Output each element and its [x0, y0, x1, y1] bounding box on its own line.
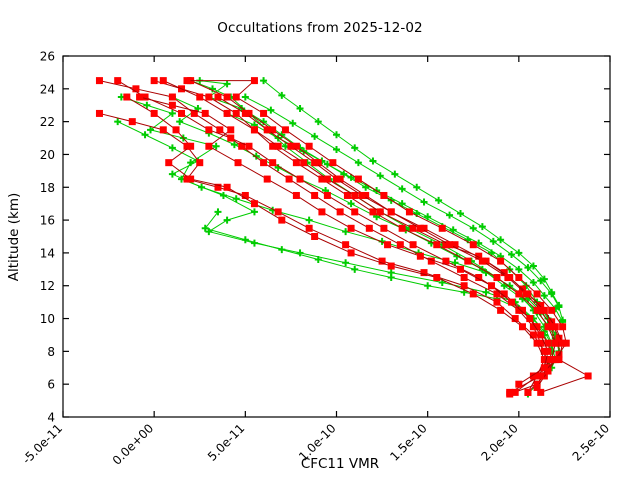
data-point-marker — [187, 143, 194, 150]
data-point-marker — [96, 77, 103, 84]
data-point-marker — [300, 159, 307, 166]
data-point-marker — [114, 118, 121, 125]
data-point-marker — [224, 110, 231, 117]
data-point-marker — [242, 236, 249, 243]
data-point-marker — [297, 176, 304, 183]
data-point-marker — [470, 225, 477, 232]
data-point-marker — [585, 372, 592, 379]
data-point-marker — [457, 210, 464, 217]
data-point-marker — [264, 176, 271, 183]
data-point-marker — [96, 110, 103, 117]
data-point-marker — [216, 126, 223, 133]
data-point-marker — [224, 217, 231, 224]
data-point-marker — [176, 118, 183, 125]
data-point-marker — [439, 225, 446, 232]
data-point-marker — [342, 241, 349, 248]
data-point-marker — [388, 208, 395, 215]
data-point-marker — [351, 208, 358, 215]
data-point-marker — [333, 131, 340, 138]
series-red-3 — [96, 110, 552, 398]
data-point-marker — [318, 208, 325, 215]
data-point-marker — [205, 143, 212, 150]
data-point-marker — [311, 133, 318, 140]
data-point-marker — [461, 274, 468, 281]
y-tick-label: 12 — [40, 279, 55, 293]
data-point-marker — [183, 77, 190, 84]
data-point-marker — [512, 389, 519, 396]
series-green-6 — [202, 208, 555, 348]
y-axis-title: Altitude (km) — [6, 193, 22, 282]
data-point-marker — [433, 274, 440, 281]
data-point-marker — [534, 340, 541, 347]
data-point-marker — [123, 94, 130, 101]
data-point-marker — [293, 192, 300, 199]
y-tick-label: 18 — [40, 181, 55, 195]
data-point-marker — [202, 110, 209, 117]
data-point-marker — [355, 176, 362, 183]
y-axis-ticks: 468101214161820222426 — [40, 50, 610, 425]
data-point-marker — [348, 225, 355, 232]
y-tick-label: 16 — [40, 214, 55, 228]
data-point-marker — [493, 299, 500, 306]
data-point-marker — [351, 192, 358, 199]
data-point-marker — [224, 94, 231, 101]
data-point-marker — [537, 389, 544, 396]
data-point-marker — [260, 159, 267, 166]
data-point-marker — [369, 208, 376, 215]
data-point-marker — [233, 94, 240, 101]
data-point-marker — [537, 307, 544, 314]
data-point-marker — [173, 126, 180, 133]
data-point-marker — [251, 200, 258, 207]
y-tick-label: 26 — [40, 50, 55, 64]
data-point-marker — [324, 176, 331, 183]
data-point-marker — [464, 258, 471, 265]
data-point-marker — [329, 159, 336, 166]
series-green-3 — [196, 77, 562, 371]
data-point-marker — [205, 126, 212, 133]
data-point-marker — [421, 199, 428, 206]
data-point-marker — [324, 192, 331, 199]
data-point-marker — [446, 241, 453, 248]
data-point-marker — [251, 126, 258, 133]
data-point-marker — [377, 208, 384, 215]
data-point-marker — [377, 172, 384, 179]
data-point-marker — [548, 323, 555, 330]
data-point-marker — [380, 192, 387, 199]
data-point-marker — [251, 208, 258, 215]
data-point-marker — [224, 184, 231, 191]
y-tick-label: 22 — [40, 115, 55, 129]
y-tick-label: 8 — [47, 345, 55, 359]
data-point-marker — [227, 135, 234, 142]
data-point-marker — [142, 131, 149, 138]
x-tick-label: 1.5e-10 — [387, 421, 429, 463]
series-red-9 — [214, 94, 558, 380]
data-point-marker — [196, 159, 203, 166]
y-tick-label: 24 — [40, 82, 55, 96]
plot-frame — [63, 56, 610, 417]
plot-canvas: 468101214161820222426 -5.0e-110.0e+005.0… — [0, 0, 640, 480]
data-point-marker — [227, 126, 234, 133]
data-point-marker — [548, 356, 555, 363]
x-axis-ticks: -5.0e-110.0e+005.0e-111.0e-101.5e-102.0e… — [20, 56, 613, 468]
data-point-marker — [235, 159, 242, 166]
data-point-marker — [160, 126, 167, 133]
data-point-marker — [515, 381, 522, 388]
data-point-marker — [351, 266, 358, 273]
data-point-marker — [289, 120, 296, 127]
data-point-marker — [242, 110, 249, 117]
data-point-marker — [530, 331, 537, 338]
data-point-marker — [384, 241, 391, 248]
data-point-marker — [245, 143, 252, 150]
data-point-marker — [196, 94, 203, 101]
y-tick-label: 6 — [47, 378, 55, 392]
data-point-marker — [214, 94, 221, 101]
data-point-marker — [351, 144, 358, 151]
x-tick-label: 5.0e-11 — [205, 421, 247, 463]
data-point-marker — [169, 94, 176, 101]
data-point-marker — [470, 241, 477, 248]
data-point-marker — [278, 246, 285, 253]
data-point-marker — [490, 238, 497, 245]
data-point-marker — [397, 241, 404, 248]
series-line — [187, 81, 566, 376]
data-point-marker — [337, 208, 344, 215]
data-point-marker — [282, 126, 289, 133]
data-point-marker — [151, 110, 158, 117]
data-point-marker — [504, 274, 511, 281]
x-tick-label: 2.5e-10 — [570, 421, 612, 463]
data-point-marker — [366, 225, 373, 232]
data-point-marker — [297, 105, 304, 112]
series-green-1 — [187, 77, 559, 397]
data-point-marker — [488, 282, 495, 289]
data-point-marker — [264, 126, 271, 133]
data-point-marker — [413, 184, 420, 191]
data-point-marker — [534, 290, 541, 297]
data-point-marker — [493, 290, 500, 297]
data-point-marker — [388, 274, 395, 281]
x-tick-label: -5.0e-11 — [20, 421, 66, 467]
data-point-marker — [435, 197, 442, 204]
x-tick-label: 0.0e+00 — [110, 421, 157, 468]
series-line — [154, 81, 555, 393]
data-point-marker — [497, 236, 504, 243]
data-series-layer — [96, 77, 592, 397]
data-point-marker — [399, 185, 406, 192]
data-point-marker — [251, 77, 258, 84]
data-point-marker — [359, 192, 366, 199]
data-point-marker — [399, 225, 406, 232]
data-point-marker — [169, 144, 176, 151]
data-point-marker — [388, 263, 395, 270]
data-point-marker — [479, 223, 486, 230]
data-point-marker — [136, 94, 143, 101]
data-point-marker — [446, 212, 453, 219]
data-point-marker — [269, 159, 276, 166]
data-point-marker — [424, 282, 431, 289]
data-point-marker — [333, 176, 340, 183]
data-point-marker — [541, 364, 548, 371]
data-point-marker — [275, 208, 282, 215]
data-point-marker — [306, 143, 313, 150]
series-line — [264, 81, 559, 306]
data-point-marker — [287, 143, 294, 150]
y-tick-label: 10 — [40, 312, 55, 326]
chart-root: Occultations from 2025-12-02 46810121416… — [0, 0, 640, 480]
data-point-marker — [342, 259, 349, 266]
data-point-marker — [311, 192, 318, 199]
data-point-marker — [114, 77, 121, 84]
axes-frame-layer — [63, 56, 610, 417]
data-point-marker — [311, 233, 318, 240]
data-point-marker — [348, 249, 355, 256]
data-point-marker — [524, 389, 531, 396]
data-point-marker — [205, 94, 212, 101]
data-point-marker — [306, 217, 313, 224]
data-point-marker — [526, 315, 533, 322]
series-line — [218, 97, 555, 376]
x-tick-label: 2.0e-10 — [478, 421, 520, 463]
data-point-marker — [267, 107, 274, 114]
data-point-marker — [242, 94, 249, 101]
data-point-marker — [315, 118, 322, 125]
data-point-marker — [151, 77, 158, 84]
data-point-marker — [417, 253, 424, 260]
data-point-marker — [497, 258, 504, 265]
data-point-marker — [406, 208, 413, 215]
data-point-marker — [563, 340, 570, 347]
data-point-marker — [311, 159, 318, 166]
data-point-marker — [479, 258, 486, 265]
data-point-marker — [169, 171, 176, 178]
series-red-10 — [136, 94, 551, 388]
data-point-marker — [224, 80, 231, 87]
data-point-marker — [545, 348, 552, 355]
data-point-marker — [523, 290, 530, 297]
data-point-marker — [293, 159, 300, 166]
data-point-marker — [275, 143, 282, 150]
data-point-marker — [380, 225, 387, 232]
data-point-marker — [433, 241, 440, 248]
data-point-marker — [260, 110, 267, 117]
data-point-marker — [286, 176, 293, 183]
data-point-marker — [548, 307, 555, 314]
data-point-marker — [165, 159, 172, 166]
y-tick-label: 20 — [40, 148, 55, 162]
data-point-marker — [410, 241, 417, 248]
data-point-marker — [508, 299, 515, 306]
data-point-marker — [537, 331, 544, 338]
data-point-marker — [497, 307, 504, 314]
data-point-marker — [457, 266, 464, 273]
data-point-marker — [187, 176, 194, 183]
data-point-marker — [355, 159, 362, 166]
data-point-marker — [391, 171, 398, 178]
data-point-marker — [169, 102, 176, 109]
data-point-marker — [278, 217, 285, 224]
data-point-marker — [198, 184, 205, 191]
data-point-marker — [515, 274, 522, 281]
data-point-marker — [129, 118, 136, 125]
x-axis-title: CFC11 VMR — [301, 456, 379, 472]
data-point-marker — [160, 77, 167, 84]
data-point-marker — [552, 340, 559, 347]
data-point-marker — [417, 225, 424, 232]
data-point-marker — [519, 323, 526, 330]
data-point-marker — [369, 158, 376, 165]
data-point-marker — [470, 290, 477, 297]
data-point-marker — [559, 323, 566, 330]
data-point-marker — [306, 225, 313, 232]
data-point-marker — [233, 110, 240, 117]
y-tick-label: 14 — [40, 246, 55, 260]
data-point-marker — [178, 110, 185, 117]
data-point-marker — [348, 200, 355, 207]
data-point-marker — [493, 274, 500, 281]
data-point-marker — [333, 146, 340, 153]
series-red-6 — [187, 77, 591, 396]
